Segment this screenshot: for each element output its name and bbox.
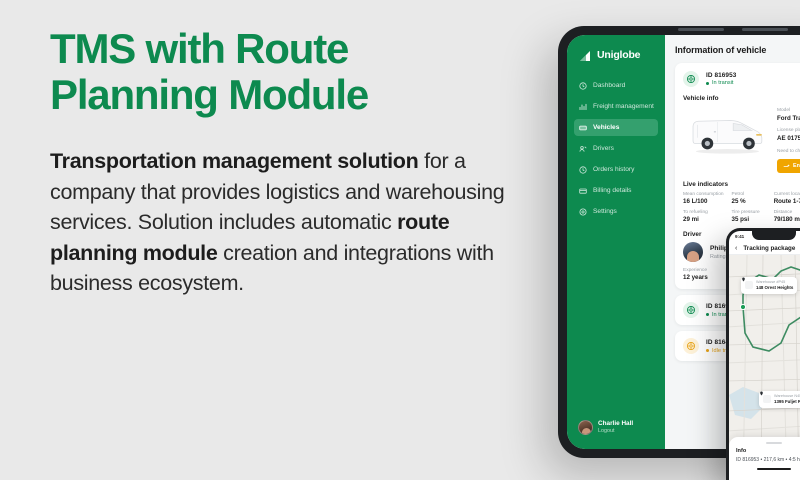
truck-icon bbox=[579, 124, 587, 132]
brand[interactable]: Uniglobe bbox=[567, 49, 665, 61]
sidebar-item-orders-history[interactable]: Orders history bbox=[574, 161, 658, 178]
sidebar-user-profile[interactable]: Charlie Hall Logout bbox=[567, 420, 665, 439]
spec-key: License plate bbox=[777, 128, 800, 135]
user-name: Charlie Hall bbox=[598, 420, 633, 428]
vehicle-info-label: Vehicle info bbox=[683, 95, 800, 102]
sidebar-item-drivers[interactable]: Drivers bbox=[574, 140, 658, 157]
indicator-value: Route 1-75 bbox=[774, 198, 800, 205]
vehicle-wheel-icon bbox=[683, 71, 699, 87]
indicator-key: Mean consumption bbox=[683, 192, 724, 197]
oil-button-label: Engine oil bbox=[793, 163, 800, 169]
vehicle-info-body: Model Ford Transit Cargo License plate A… bbox=[683, 106, 800, 173]
vehicle-header: ID 816953 In transit bbox=[683, 71, 800, 87]
status-dot-icon bbox=[706, 82, 709, 85]
description-bold-lead: Transportation management solution bbox=[50, 149, 418, 173]
indicator-item: Current locationRoute 1-75 bbox=[774, 192, 800, 205]
oil-can-icon bbox=[783, 162, 790, 170]
marker-value: 148 Orest Heights bbox=[756, 285, 793, 291]
indicator-item: Mean consumption16 L/100 bbox=[683, 192, 724, 205]
marketing-panel: TMS with Route Planning Module Transport… bbox=[0, 0, 560, 480]
indicator-item: Petrol25 % bbox=[732, 192, 766, 205]
chevron-left-icon[interactable]: ‹ bbox=[735, 245, 737, 252]
driver-avatar bbox=[683, 242, 703, 262]
status-label: In transit bbox=[712, 80, 733, 86]
indicator-item: Distance79/180 mi bbox=[774, 210, 800, 223]
sidebar-item-label: Vehicles bbox=[593, 124, 619, 131]
vehicle-id: ID 816953 bbox=[706, 72, 736, 79]
indicator-value: 25 % bbox=[732, 198, 766, 205]
logout-link[interactable]: Logout bbox=[598, 428, 633, 435]
sidebar: Uniglobe Dashboard Freight management Ve… bbox=[567, 35, 665, 449]
sidebar-item-freight-management[interactable]: Freight management bbox=[574, 98, 658, 115]
sidebar-item-billing-details[interactable]: Billing details bbox=[574, 182, 658, 199]
uniglobe-logo-icon bbox=[579, 49, 592, 61]
map-marker-origin[interactable]: Warehouse #P45 148 Orest Heights bbox=[741, 277, 797, 294]
vehicle-photo bbox=[683, 106, 769, 173]
indicator-key: Petrol bbox=[732, 192, 766, 197]
home-indicator bbox=[757, 468, 791, 470]
indicator-key: Tire pressure bbox=[732, 210, 766, 215]
clock-icon bbox=[579, 82, 587, 90]
indicator-value: 29 mi bbox=[683, 216, 724, 223]
map-marker-destination[interactable]: Warehouse N45 1395 Fuljet Road bbox=[759, 391, 800, 408]
chart-icon bbox=[579, 103, 587, 111]
page-title: TMS with Route Planning Module bbox=[50, 26, 520, 118]
sidebar-item-label: Drivers bbox=[593, 145, 614, 152]
status-dot-icon bbox=[706, 313, 709, 316]
cargo-van-illustration bbox=[683, 106, 769, 158]
indicator-key: To refueling bbox=[683, 210, 724, 215]
indicator-value: 16 L/100 bbox=[683, 198, 724, 205]
info-bottom-sheet[interactable]: Info ID 816953 • 217,6 km • 4:5 h bbox=[729, 437, 800, 480]
sidebar-item-settings[interactable]: Settings bbox=[574, 203, 658, 220]
warehouse-pin-icon bbox=[745, 281, 753, 289]
vehicle-specs: Model Ford Transit Cargo License plate A… bbox=[777, 106, 800, 173]
live-indicators-grid: Mean consumption16 L/100 Petrol25 % Curr… bbox=[683, 192, 800, 223]
sidebar-item-dashboard[interactable]: Dashboard bbox=[574, 77, 658, 94]
indicator-value: 79/180 mi bbox=[774, 216, 800, 223]
info-title: Info bbox=[736, 448, 800, 454]
marker-value: 1395 Fuljet Road bbox=[774, 399, 800, 405]
vehicle-wheel-icon bbox=[683, 338, 699, 354]
users-icon bbox=[579, 145, 587, 153]
live-indicators-label: Live indicators bbox=[683, 181, 800, 188]
need-to-check-label: Need to check: bbox=[777, 149, 800, 156]
indicator-key: Distance bbox=[774, 210, 800, 215]
gear-icon bbox=[579, 208, 587, 216]
brand-name: Uniglobe bbox=[597, 49, 640, 61]
driver-field: Experience12 years bbox=[683, 268, 719, 281]
phone-screen: 9:41 ‹ Tracking package bbox=[729, 231, 800, 480]
indicator-value: 35 psi bbox=[732, 216, 766, 223]
driver-field-value: 12 years bbox=[683, 274, 719, 281]
vehicle-wheel-icon bbox=[683, 302, 699, 318]
status-badge: In transit bbox=[706, 80, 736, 86]
rating-label: Rating bbox=[710, 254, 726, 260]
spec-row-model: Model Ford Transit Cargo bbox=[777, 108, 800, 123]
phone-header: ‹ Tracking package bbox=[729, 242, 800, 255]
phone-device-mockup: 9:41 ‹ Tracking package bbox=[726, 228, 800, 480]
spec-value: AE 0175 HB bbox=[777, 135, 800, 144]
tablet-antenna-lines bbox=[678, 28, 788, 31]
sidebar-item-vehicles[interactable]: Vehicles bbox=[574, 119, 658, 136]
card-icon bbox=[579, 187, 587, 195]
sidebar-item-label: Orders history bbox=[593, 166, 634, 173]
info-meta: ID 816953 • 217,6 km • 4:5 h bbox=[736, 457, 800, 463]
engine-oil-button[interactable]: Engine oil bbox=[777, 159, 800, 173]
avatar bbox=[578, 420, 593, 435]
marketing-description: Transportation management solution for a… bbox=[50, 146, 520, 299]
map-view[interactable]: Warehouse #P45 148 Orest Heights Warehou… bbox=[729, 255, 800, 480]
phone-title: Tracking package bbox=[743, 245, 795, 252]
indicator-key: Current location bbox=[774, 192, 800, 197]
content-title: Information of vehicle bbox=[675, 45, 800, 55]
warehouse-pin-icon bbox=[763, 395, 771, 403]
phone-notch bbox=[752, 231, 796, 240]
status-dot-icon bbox=[706, 349, 709, 352]
spec-value: Ford Transit Cargo bbox=[777, 115, 800, 124]
sidebar-item-label: Settings bbox=[593, 208, 617, 215]
sheet-grabber[interactable] bbox=[766, 442, 782, 444]
sidebar-item-label: Freight management bbox=[593, 103, 654, 110]
sidebar-item-label: Dashboard bbox=[593, 82, 625, 89]
indicator-item: To refueling29 mi bbox=[683, 210, 724, 223]
history-icon bbox=[579, 166, 587, 174]
status-time: 9:41 bbox=[735, 234, 744, 239]
driver-field-key: Experience bbox=[683, 268, 719, 273]
sidebar-item-label: Billing details bbox=[593, 187, 631, 194]
indicator-item: Tire pressure35 psi bbox=[732, 210, 766, 223]
spec-key: Model bbox=[777, 108, 800, 115]
spec-row-plate-year: License plate AE 0175 HB Year 2021 bbox=[777, 128, 800, 143]
